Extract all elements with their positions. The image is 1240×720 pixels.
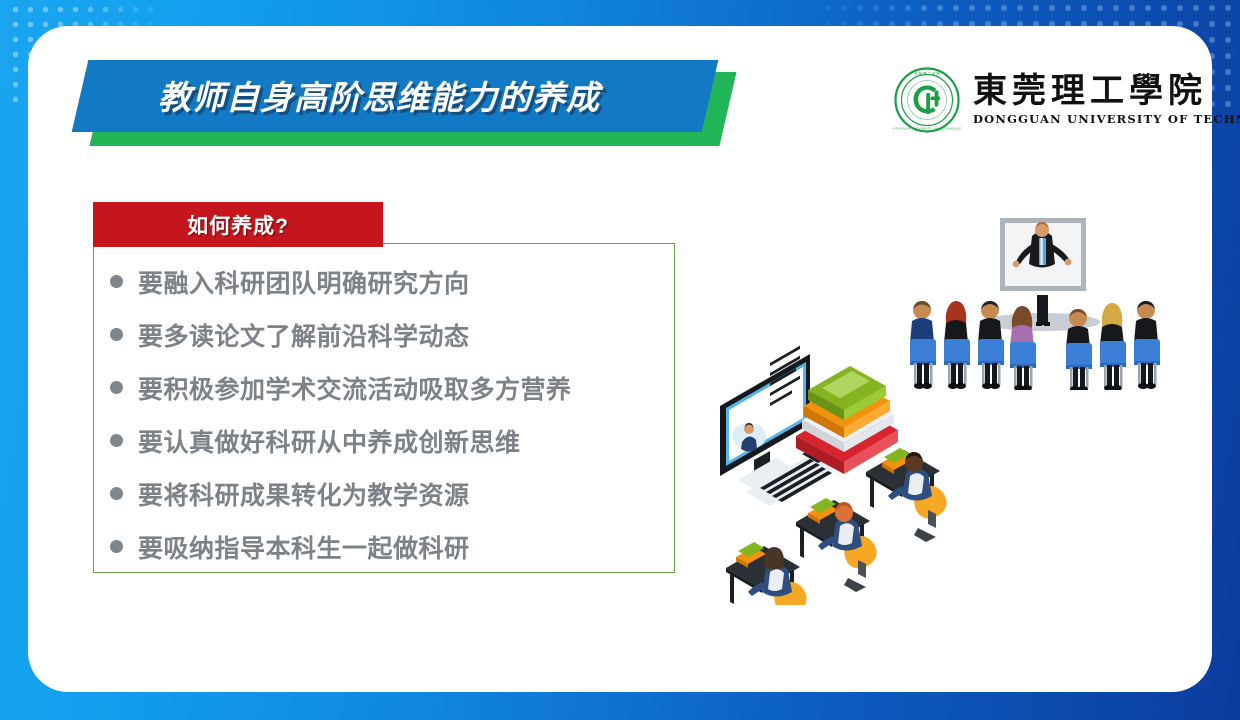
bullet-dot-icon [110, 381, 123, 394]
list-item-label: 要吸纳指导本科生一起做科研 [138, 529, 470, 565]
presentation-slide: 教师自身高阶思维能力的养成 东 莞 理 工 学 院 DONGGUAN UNIVE… [0, 0, 1240, 720]
bullet-list: 要融入科研团队明确研究方向 要多读论文了解前沿科学动态 要积极参加学术交流活动吸… [110, 255, 680, 573]
bullet-dot-icon [110, 487, 123, 500]
list-item-label: 要融入科研团队明确研究方向 [138, 264, 470, 300]
list-item-label: 要积极参加学术交流活动吸取多方营养 [138, 370, 572, 406]
university-name-en: DONGGUAN UNIVERSITY OF TECHNOLOGY [973, 112, 1240, 126]
list-item-label: 要多读论文了解前沿科学动态 [138, 317, 470, 353]
university-name-block: 東莞理工學院 DONGGUAN UNIVERSITY OF TECHNOLOGY [973, 74, 1240, 127]
bullet-dot-icon [110, 434, 123, 447]
list-item: 要认真做好科研从中养成创新思维 [110, 414, 680, 467]
svg-text:东 莞 理 工 学 院: 东 莞 理 工 学 院 [914, 71, 940, 76]
list-item-label: 要将科研成果转化为教学资源 [138, 476, 470, 512]
bullet-dot-icon [110, 328, 123, 341]
list-item-label: 要认真做好科研从中养成创新思维 [138, 423, 521, 459]
list-item: 要积极参加学术交流活动吸取多方营养 [110, 361, 680, 414]
page-title: 教师自身高阶思维能力的养成 [74, 58, 684, 132]
bullet-dot-icon [110, 275, 123, 288]
university-logo: 东 莞 理 工 学 院 DONGGUAN UNIVERSITY OF TECHN… [893, 58, 1173, 142]
bullet-dot-icon [110, 540, 123, 553]
list-item: 要多读论文了解前沿科学动态 [110, 308, 680, 361]
title-banner: 教师自身高阶思维能力的养成 [74, 58, 734, 150]
list-item: 要吸纳指导本科生一起做科研 [110, 520, 680, 573]
list-item: 要融入科研团队明确研究方向 [110, 255, 680, 308]
university-name-cn: 東莞理工學院 [973, 74, 1240, 110]
list-item: 要将科研成果转化为教学资源 [110, 467, 680, 520]
section-label-chip: 如何养成? [93, 202, 383, 247]
university-emblem-icon: 东 莞 理 工 学 院 DONGGUAN UNIVERSITY OF TECHN… [893, 66, 961, 134]
svg-text:DONGGUAN UNIVERSITY OF TECHNOL: DONGGUAN UNIVERSITY OF TECHNOLOGY [893, 127, 961, 131]
section-label-text: 如何养成? [187, 210, 289, 240]
elearning-classroom-illustration [718, 340, 988, 605]
